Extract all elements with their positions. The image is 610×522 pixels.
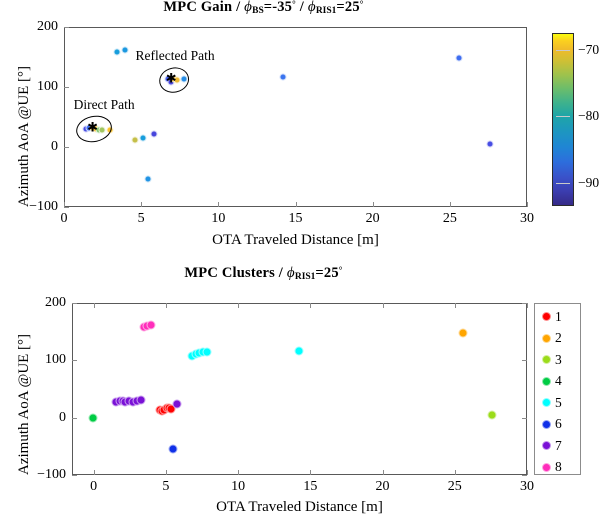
x-axis-title-clusters: OTA Traveled Distance [m]: [72, 499, 527, 516]
data-point-cluster-3: [488, 410, 497, 419]
y-tick: [72, 475, 77, 476]
data-point-cluster-7: [172, 400, 181, 409]
panel-mpc-clusters: MPC Clusters / ϕRIS1=25° 051015202530−10…: [0, 262, 610, 522]
y-axis-title: Azimuth AoA @UE [°]: [16, 66, 33, 207]
x-tick-top: [94, 303, 95, 308]
data-point: [150, 130, 157, 137]
legend-color-swatch: [542, 377, 551, 386]
legend-color-swatch: [542, 334, 551, 343]
x-tick: [166, 470, 167, 475]
annotation-label: Direct Path: [74, 97, 135, 113]
data-point-cluster-7: [137, 396, 146, 405]
legend-label: 1: [555, 310, 562, 324]
legend-item-8[interactable]: 8: [542, 460, 562, 474]
y-axis-title-clusters: Azimuth AoA @UE [°]: [16, 334, 33, 475]
x-tick-label: 30: [520, 479, 534, 495]
x-tick-top: [238, 303, 239, 308]
cluster-legend[interactable]: 12345678: [534, 303, 581, 475]
x-tick-label: 30: [520, 211, 534, 227]
x-tick: [296, 202, 297, 207]
title-text: MPC Clusters /: [184, 265, 286, 281]
legend-label: 6: [555, 417, 562, 431]
legend-color-swatch: [542, 463, 551, 472]
x-tick-label: 10: [211, 211, 225, 227]
x-tick: [310, 470, 311, 475]
y-tick: [64, 147, 69, 148]
title-text: MPC Gain /: [163, 0, 244, 15]
y-tick-right: [522, 418, 527, 419]
x-tick-label: 0: [90, 479, 97, 495]
x-tick: [450, 202, 451, 207]
x-tick-label: 5: [162, 479, 169, 495]
x-tick-top: [310, 303, 311, 308]
annotation-label: Reflected Path: [136, 48, 215, 64]
colorbar-tick-label: −80: [578, 108, 599, 124]
data-point-cluster-6: [169, 444, 178, 453]
x-tick: [218, 202, 219, 207]
legend-label: 2: [555, 331, 562, 345]
legend-color-swatch: [542, 355, 551, 364]
x-tick: [141, 202, 142, 207]
legend-item-2[interactable]: 2: [542, 331, 562, 345]
x-tick-label: 10: [231, 479, 245, 495]
legend-color-swatch: [542, 441, 551, 450]
data-point: [139, 135, 146, 142]
figure-root: MPC Gain / ϕBS=-35° / ϕRIS1=25° 05101520…: [0, 0, 610, 522]
legend-label: 5: [555, 396, 562, 410]
y-tick: [64, 207, 69, 208]
x-tick-top: [166, 303, 167, 308]
y-tick-label: 200: [16, 19, 58, 35]
legend-item-1[interactable]: 1: [542, 310, 562, 324]
x-tick: [373, 202, 374, 207]
colorbar-tick: [556, 183, 570, 184]
data-point: [121, 46, 128, 53]
colorbar-tick: [556, 50, 570, 51]
x-tick-label: 5: [138, 211, 145, 227]
y-tick-right: [522, 360, 527, 361]
legend-label: 3: [555, 353, 562, 367]
data-point: [280, 73, 287, 80]
x-tick-label: 20: [376, 479, 390, 495]
x-tick-label: 15: [289, 211, 303, 227]
y-tick-right: [522, 303, 527, 304]
colorbar-tick-label: −70: [578, 42, 599, 58]
data-point: [145, 176, 152, 183]
x-tick-label: 25: [443, 211, 457, 227]
x-tick-label: 15: [303, 479, 317, 495]
x-tick-top: [455, 303, 456, 308]
x-tick: [383, 470, 384, 475]
x-axis-title: OTA Traveled Distance [m]: [64, 232, 527, 249]
legend-label: 4: [555, 374, 562, 388]
panel-mpc-gain: MPC Gain / ϕBS=-35° / ϕRIS1=25° 05101520…: [0, 0, 610, 262]
x-tick: [455, 470, 456, 475]
page-title: MPC Gain / ϕBS=-35° / ϕRIS1=25°: [0, 0, 527, 16]
colorbar: [552, 33, 574, 206]
x-tick-label: 25: [448, 479, 462, 495]
x-tick-top: [527, 303, 528, 308]
x-tick: [527, 470, 528, 475]
data-point: [114, 48, 121, 55]
data-point: [486, 141, 493, 148]
legend-item-5[interactable]: 5: [542, 396, 562, 410]
x-tick: [238, 470, 239, 475]
legend-item-6[interactable]: 6: [542, 417, 562, 431]
x-tick-top: [383, 303, 384, 308]
x-tick-label: 20: [366, 211, 380, 227]
data-point-cluster-5: [203, 347, 212, 356]
data-point-cluster-2: [459, 328, 468, 337]
legend-item-3[interactable]: 3: [542, 353, 562, 367]
y-tick: [64, 27, 69, 28]
x-tick: [527, 202, 528, 207]
y-tick: [72, 360, 77, 361]
legend-item-4[interactable]: 4: [542, 374, 562, 388]
legend-color-swatch: [542, 312, 551, 321]
data-point: [131, 136, 138, 143]
y-tick: [72, 418, 77, 419]
y-tick: [64, 87, 69, 88]
legend-label: 7: [555, 439, 562, 453]
legend-label: 8: [555, 460, 562, 474]
legend-color-swatch: [542, 420, 551, 429]
colorbar-tick: [556, 116, 570, 117]
data-point-cluster-8: [146, 320, 155, 329]
colorbar-tick-label: −90: [578, 175, 599, 191]
legend-color-swatch: [542, 398, 551, 407]
data-point-cluster-5: [294, 346, 303, 355]
y-tick-right: [522, 475, 527, 476]
x-tick-label: 0: [61, 211, 68, 227]
y-tick-label: 200: [24, 295, 66, 311]
page-title-clusters: MPC Clusters / ϕRIS1=25°: [0, 265, 527, 282]
y-tick: [72, 303, 77, 304]
data-point: [456, 55, 463, 62]
data-point-cluster-4: [88, 413, 97, 422]
x-tick: [94, 470, 95, 475]
legend-item-7[interactable]: 7: [542, 439, 562, 453]
